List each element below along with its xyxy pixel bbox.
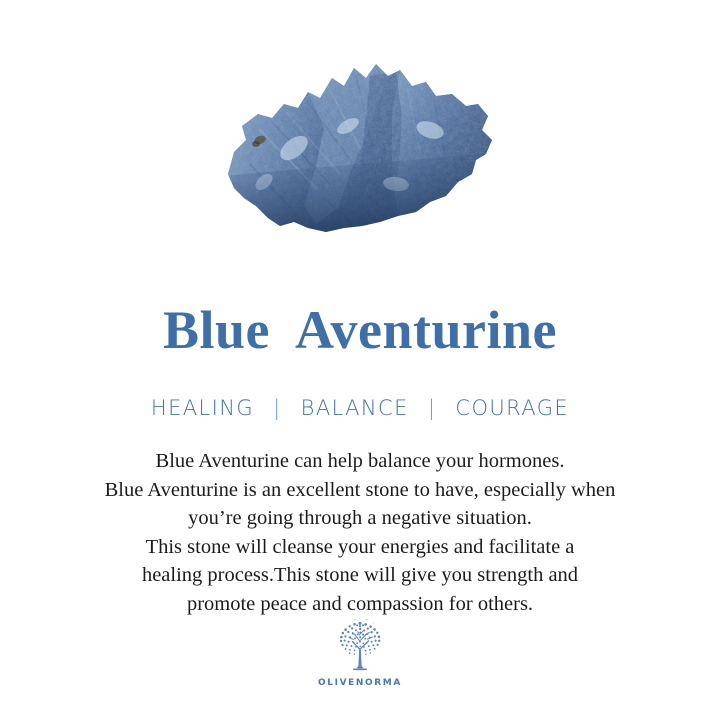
olive-tree-icon — [329, 618, 391, 676]
description-line: promote peace and compassion for others. — [0, 590, 720, 619]
keyword-healing: HEALING — [151, 396, 254, 420]
brand-wordmark: OLIVENORMA — [318, 678, 402, 688]
blue-aventurine-stone-image — [220, 56, 500, 236]
keyword-list: HEALING | BALANCE | COURAGE — [0, 396, 720, 420]
description-line: you’re going through a negative situatio… — [0, 504, 720, 533]
stone-image-container — [0, 46, 720, 246]
page-title: Blue Aventurine — [0, 302, 720, 359]
description-text: Blue Aventurine can help balance your ho… — [0, 447, 720, 618]
description-line: Blue Aventurine can help balance your ho… — [0, 447, 720, 476]
stone-body — [220, 56, 500, 236]
keyword-courage: COURAGE — [455, 396, 569, 420]
brand-logo: OLIVENORMA — [0, 618, 720, 688]
keyword-balance: BALANCE — [301, 396, 409, 420]
description-line: This stone will cleanse your energies an… — [0, 533, 720, 562]
keyword-separator: | — [417, 396, 447, 420]
description-line: healing process.This stone will give you… — [0, 561, 720, 590]
product-info-card: Blue Aventurine HEALING | BALANCE | COUR… — [0, 0, 720, 720]
description-line: Blue Aventurine is an excellent stone to… — [0, 476, 720, 505]
keyword-separator: | — [262, 396, 292, 420]
